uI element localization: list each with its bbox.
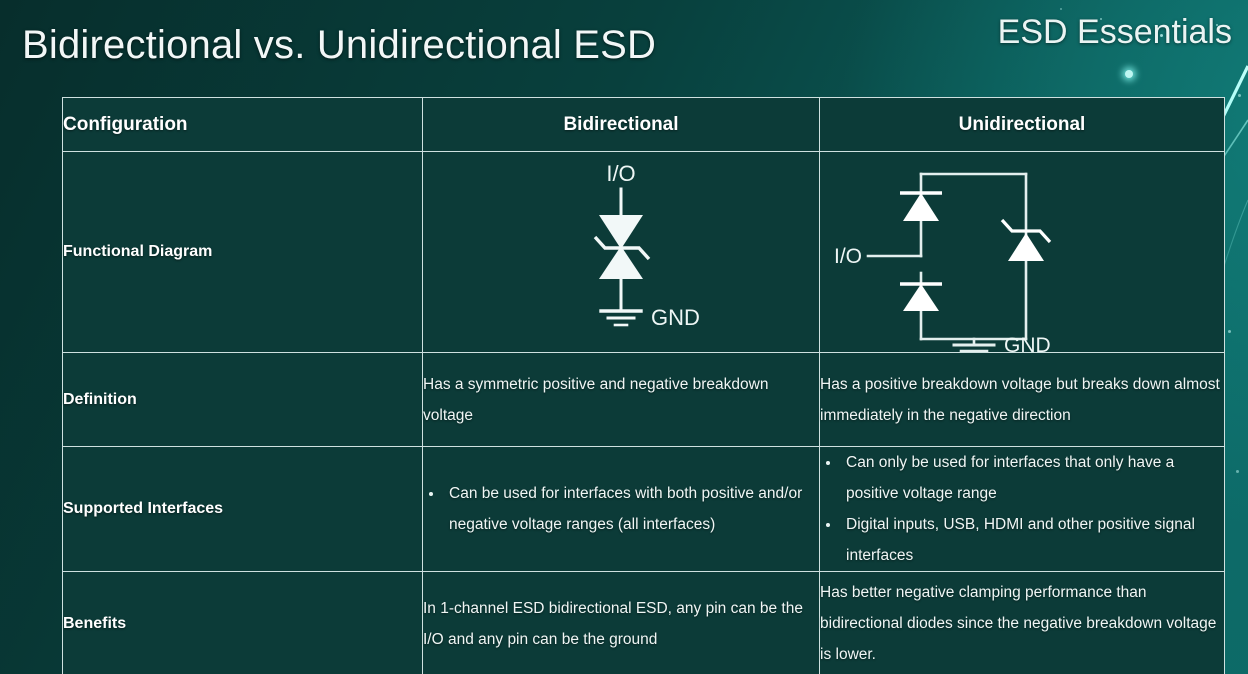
column-header-unidirectional: Unidirectional xyxy=(820,98,1225,152)
row-label-supported-interfaces: Supported Interfaces xyxy=(63,447,423,572)
table-row-supported-interfaces: Supported Interfaces Can be used for int… xyxy=(63,447,1225,572)
row-label-definition: Definition xyxy=(63,353,423,447)
unidirectional-diode-network-icon: I/O GND xyxy=(820,153,1225,352)
definition-bidirectional-text: Has a symmetric positive and negative br… xyxy=(423,353,820,447)
bidirectional-gnd-label: GND xyxy=(651,305,700,330)
supported-unidirectional-list: Can only be used for interfaces that onl… xyxy=(820,447,1225,572)
list-item: Can be used for interfaces with both pos… xyxy=(423,478,819,540)
comparison-table: Configuration Bidirectional Unidirection… xyxy=(62,97,1225,674)
bidirectional-diagram-cell: I/O GND xyxy=(423,152,820,353)
column-header-bidirectional: Bidirectional xyxy=(423,98,820,152)
unidirectional-gnd-label: GND xyxy=(1004,334,1051,352)
list-item: Can only be used for interfaces that onl… xyxy=(820,447,1224,509)
table-row-benefits: Benefits In 1-channel ESD bidirectional … xyxy=(63,572,1225,674)
definition-unidirectional-text: Has a positive breakdown voltage but bre… xyxy=(820,353,1225,447)
supported-bidirectional-list: Can be used for interfaces with both pos… xyxy=(423,447,820,572)
slide-canvas: Bidirectional vs. Unidirectional ESD ESD… xyxy=(0,0,1248,674)
bidirectional-tvs-diode-icon: I/O GND xyxy=(423,153,820,352)
bidirectional-io-label: I/O xyxy=(606,161,635,186)
unidirectional-diagram-cell: I/O GND xyxy=(820,152,1225,353)
unidirectional-io-label: I/O xyxy=(834,245,862,268)
row-label-functional-diagram: Functional Diagram xyxy=(63,152,423,353)
column-header-configuration: Configuration xyxy=(63,98,423,152)
table-header-row: Configuration Bidirectional Unidirection… xyxy=(63,98,1225,152)
page-title: Bidirectional vs. Unidirectional ESD xyxy=(22,22,656,68)
table-row-functional-diagram: Functional Diagram xyxy=(63,152,1225,353)
list-item: Digital inputs, USB, HDMI and other posi… xyxy=(820,509,1224,571)
row-label-benefits: Benefits xyxy=(63,572,423,674)
series-label: ESD Essentials xyxy=(998,12,1232,52)
table-row-definition: Definition Has a symmetric positive and … xyxy=(63,353,1225,447)
benefits-unidirectional-text: Has better negative clamping performance… xyxy=(820,572,1225,674)
benefits-bidirectional-text: In 1-channel ESD bidirectional ESD, any … xyxy=(423,572,820,674)
